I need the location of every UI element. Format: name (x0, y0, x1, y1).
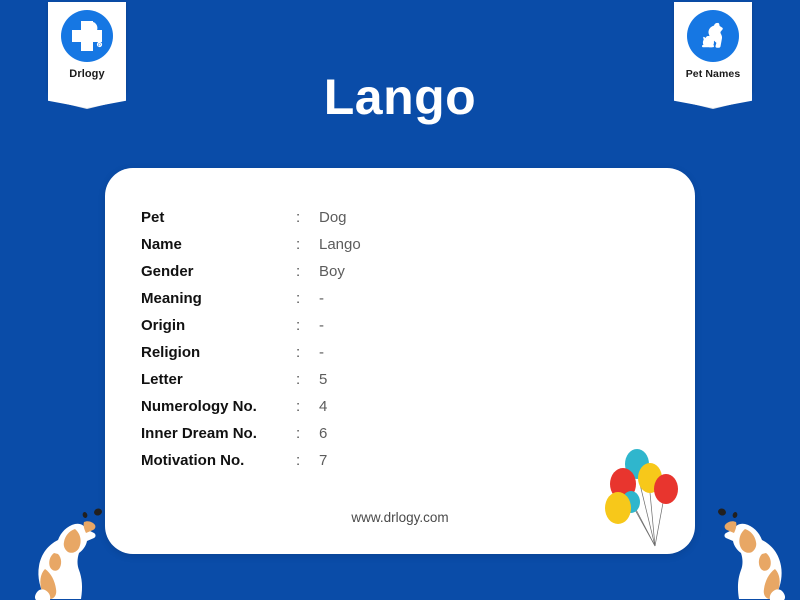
row-label: Gender (141, 263, 296, 280)
row-value: - (319, 290, 324, 307)
row-value: Boy (319, 263, 345, 280)
row-label: Name (141, 236, 296, 253)
row-label: Meaning (141, 290, 296, 307)
poster-canvas: P Drlogy Pet Names Lango Pet : (0, 0, 800, 600)
row-value: Lango (319, 236, 361, 253)
svg-text:P: P (98, 43, 101, 48)
table-row: Motivation No. : 7 (141, 452, 361, 479)
row-value: 7 (319, 452, 327, 469)
row-separator: : (296, 398, 319, 415)
row-separator: : (296, 425, 319, 442)
row-label: Motivation No. (141, 452, 296, 469)
pet-info-card: Pet : Dog Name : Lango Gender : Boy Mean… (105, 168, 695, 554)
row-separator: : (296, 263, 319, 280)
sitting-dog-icon (692, 495, 800, 600)
balloons-icon (593, 442, 689, 552)
row-value: 6 (319, 425, 327, 442)
table-row: Origin : - (141, 317, 361, 344)
row-label: Origin (141, 317, 296, 334)
row-separator: : (296, 290, 319, 307)
pet-details-table: Pet : Dog Name : Lango Gender : Boy Mean… (141, 209, 361, 479)
table-row: Inner Dream No. : 6 (141, 425, 361, 452)
row-separator: : (296, 344, 319, 361)
row-separator: : (296, 317, 319, 334)
row-value: Dog (319, 209, 347, 226)
row-label: Religion (141, 344, 296, 361)
row-value: 5 (319, 371, 327, 388)
row-separator: : (296, 371, 319, 388)
row-label: Inner Dream No. (141, 425, 296, 442)
table-row: Letter : 5 (141, 371, 361, 398)
row-separator: : (296, 209, 319, 226)
drlogy-medical-cross-icon: P (61, 10, 113, 62)
table-row: Pet : Dog (141, 209, 361, 236)
row-value: - (319, 344, 324, 361)
dog-cat-silhouette-icon (687, 10, 739, 62)
row-separator: : (296, 452, 319, 469)
row-label: Numerology No. (141, 398, 296, 415)
row-separator: : (296, 236, 319, 253)
sitting-dog-icon (18, 495, 128, 600)
table-row: Meaning : - (141, 290, 361, 317)
row-value: - (319, 317, 324, 334)
table-row: Religion : - (141, 344, 361, 371)
page-title: Lango (0, 68, 800, 126)
table-row: Numerology No. : 4 (141, 398, 361, 425)
row-label: Letter (141, 371, 296, 388)
row-value: 4 (319, 398, 327, 415)
row-label: Pet (141, 209, 296, 226)
table-row: Gender : Boy (141, 263, 361, 290)
table-row: Name : Lango (141, 236, 361, 263)
